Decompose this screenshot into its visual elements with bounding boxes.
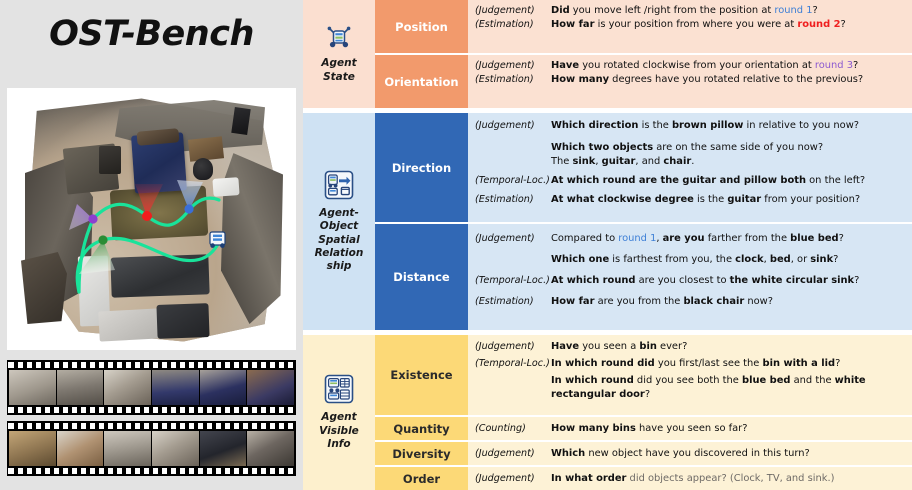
- row-body-quantity: (Counting) How many bins have you seen s…: [468, 417, 912, 440]
- question-type: (Temporal-Loc.): [475, 357, 551, 371]
- question: (Estimation) How many degrees have you r…: [475, 73, 908, 87]
- question-type: (Temporal-Loc.): [475, 174, 551, 188]
- film-frame-highlighted-blue[interactable]: [104, 370, 151, 405]
- question: (Judgement) Which new object have you di…: [475, 447, 908, 461]
- taxonomy-table: Agent State Position (Judgement) Did you…: [303, 0, 912, 490]
- question: (Estimation) How far are you from the bl…: [475, 295, 908, 309]
- question-text: How far is your position from where you …: [551, 18, 908, 32]
- question-type: (Judgement): [475, 59, 551, 73]
- film-frame[interactable]: [57, 370, 104, 405]
- film-perforations-top: [7, 423, 296, 429]
- question-type: (Judgement): [475, 447, 551, 461]
- waypoint-purple: [88, 214, 97, 223]
- film-frame-highlighted-red[interactable]: [247, 370, 294, 405]
- question-type: (Estimation): [475, 295, 551, 309]
- row-label-position: Position: [375, 0, 468, 53]
- question: (Temporal-Loc.) In which round did you f…: [475, 357, 908, 371]
- waypoint-blue: [184, 204, 193, 213]
- group-label-line: Object: [320, 220, 358, 233]
- filmstrips: [7, 360, 296, 482]
- question-text: Which new object have you discovered in …: [551, 447, 908, 461]
- film-frame[interactable]: [9, 370, 56, 405]
- row-body-existence: (Judgement) Have you seen a bin ever? (T…: [468, 335, 912, 415]
- question-type: [475, 374, 551, 402]
- question-type: (Estimation): [475, 73, 551, 87]
- question-text: In which round did you first/last see th…: [551, 357, 908, 371]
- question-type: (Judgement): [475, 340, 551, 354]
- row-label-diversity: Diversity: [375, 442, 468, 465]
- row-label-order: Order: [375, 467, 468, 490]
- group-agent-object-spatial-relationship: Agent- Object Spatial Relation ship Dire…: [303, 113, 912, 330]
- group-label-line: Agent-: [319, 207, 359, 220]
- row-distance: Distance (Judgement) Compared to round 1…: [375, 224, 912, 330]
- question: (Judgement) Did you move left /right fro…: [475, 4, 908, 18]
- group-label-line: ship: [327, 260, 352, 273]
- question: (Judgement) Which direction is the brown…: [475, 119, 908, 133]
- row-body-order: (Judgement) In what order did objects ap…: [468, 467, 912, 490]
- row-body-orientation: (Judgement) Have you rotated clockwise f…: [468, 55, 912, 108]
- row-label-quantity: Quantity: [375, 417, 468, 440]
- question-text: Which one is farthest from you, the cloc…: [551, 253, 908, 267]
- question: (Estimation) At what clockwise degree is…: [475, 193, 908, 207]
- group-agent-visible-info: Agent Visible Info Existence (Judgement)…: [303, 335, 912, 490]
- question: Which two objects are on the same side o…: [475, 141, 908, 169]
- spacer: [475, 133, 908, 141]
- question-type: (Counting): [475, 422, 551, 436]
- film-frame[interactable]: [152, 431, 199, 466]
- question: (Judgement) In what order did objects ap…: [475, 472, 908, 486]
- question-type: [475, 141, 551, 169]
- agent-object-relation-icon: [324, 170, 354, 204]
- row-direction: Direction (Judgement) Which direction is…: [375, 113, 912, 222]
- question-text: How many bins have you seen so far?: [551, 422, 908, 436]
- group-label-line: Spatial: [318, 234, 359, 247]
- waypoint-green: [98, 235, 107, 244]
- left-panel: OST-Bench: [0, 0, 303, 490]
- film-frame[interactable]: [200, 370, 247, 405]
- waypoint-red: [142, 211, 152, 221]
- question-text: Which direction is the brown pillow in r…: [551, 119, 908, 133]
- question-type: [475, 253, 551, 267]
- question-text: At which round are the guitar and pillow…: [551, 174, 908, 188]
- row-existence: Existence (Judgement) Have you seen a bi…: [375, 335, 912, 415]
- film-perforations-bottom: [7, 468, 296, 474]
- question-type: (Judgement): [475, 472, 551, 486]
- scene-viewport: [7, 88, 296, 350]
- question: (Counting) How many bins have you seen s…: [475, 422, 908, 436]
- question: In which round did you see both the blue…: [475, 374, 908, 402]
- question-text: Compared to round 1, are you farther fro…: [551, 232, 908, 246]
- question-type: (Judgement): [475, 119, 551, 133]
- question-type: (Estimation): [475, 18, 551, 32]
- row-order: Order (Judgement) In what order did obje…: [375, 467, 912, 490]
- question-text: How many degrees have you rotated relati…: [551, 73, 908, 87]
- row-quantity: Quantity (Counting) How many bins have y…: [375, 417, 912, 440]
- row-orientation: Orientation (Judgement) Have you rotated…: [375, 55, 912, 108]
- film-frame[interactable]: [152, 370, 199, 405]
- group-label-line: Agent: [321, 57, 356, 70]
- question-type: (Estimation): [475, 193, 551, 207]
- group-agent-state: Agent State Position (Judgement) Did you…: [303, 0, 912, 108]
- group-visible-icon-cell: Agent Visible Info: [303, 335, 375, 490]
- row-body-diversity: (Judgement) Which new object have you di…: [468, 442, 912, 465]
- group-label-line: Info: [327, 438, 350, 451]
- row-body-position: (Judgement) Did you move left /right fro…: [468, 0, 912, 53]
- question-type: (Temporal-Loc.): [475, 274, 551, 288]
- question-text: Did you move left /right from the positi…: [551, 4, 908, 18]
- question-text: Which two objects are on the same side o…: [551, 141, 908, 169]
- question-text: Have you seen a bin ever?: [551, 340, 908, 354]
- question: (Judgement) Compared to round 1, are you…: [475, 232, 908, 246]
- group-agent-state-icon-cell: Agent State: [303, 0, 375, 108]
- figure-root: OST-Bench: [0, 0, 912, 490]
- question-type: (Judgement): [475, 232, 551, 246]
- question-text: At what clockwise degree is the guitar f…: [551, 193, 908, 207]
- filmstrip-row-1: [7, 360, 296, 415]
- agent-trajectory: [7, 88, 296, 350]
- question-text: At which round are you closest to the wh…: [551, 274, 908, 288]
- robot-marker: [210, 232, 225, 248]
- row-label-direction: Direction: [375, 113, 468, 222]
- question: (Judgement) Have you rotated clockwise f…: [475, 59, 908, 73]
- question-text: Have you rotated clockwise from your ori…: [551, 59, 908, 73]
- row-body-direction: (Judgement) Which direction is the brown…: [468, 113, 912, 222]
- page-title: OST-Bench: [0, 14, 303, 54]
- row-label-distance: Distance: [375, 224, 468, 330]
- film-frame[interactable]: [57, 431, 104, 466]
- group-label-line: Relation: [315, 247, 364, 260]
- question: (Estimation) How far is your position fr…: [475, 18, 908, 32]
- question-text: How far are you from the black chair now…: [551, 295, 908, 309]
- question: (Temporal-Loc.) At which round are the g…: [475, 174, 908, 188]
- film-frame-highlighted-purple[interactable]: [104, 431, 151, 466]
- question-type: (Judgement): [475, 4, 551, 18]
- group-label-line: Visible: [319, 425, 359, 438]
- question: Which one is farthest from you, the cloc…: [475, 253, 908, 267]
- film-frame-highlighted-green[interactable]: [200, 431, 247, 466]
- row-label-orientation: Orientation: [375, 55, 468, 108]
- agent-visible-info-icon: [324, 374, 354, 408]
- robot-icon: [326, 24, 352, 54]
- group-spatial-icon-cell: Agent- Object Spatial Relation ship: [303, 113, 375, 330]
- row-body-distance: (Judgement) Compared to round 1, are you…: [468, 224, 912, 330]
- question: (Judgement) Have you seen a bin ever?: [475, 340, 908, 354]
- film-perforations-bottom: [7, 407, 296, 413]
- group-label-line: Agent: [321, 411, 356, 424]
- question-text: In which round did you see both the blue…: [551, 374, 908, 402]
- row-label-existence: Existence: [375, 335, 468, 415]
- row-position: Position (Judgement) Did you move left /…: [375, 0, 912, 53]
- question: (Temporal-Loc.) At which round are you c…: [475, 274, 908, 288]
- filmstrip-row-2: [7, 421, 296, 476]
- question-text: In what order did objects appear? (Clock…: [551, 472, 908, 486]
- film-frame[interactable]: [9, 431, 56, 466]
- row-diversity: Diversity (Judgement) Which new object h…: [375, 442, 912, 465]
- group-label-line: State: [323, 71, 355, 84]
- film-perforations-top: [7, 362, 296, 368]
- film-frame[interactable]: [247, 431, 294, 466]
